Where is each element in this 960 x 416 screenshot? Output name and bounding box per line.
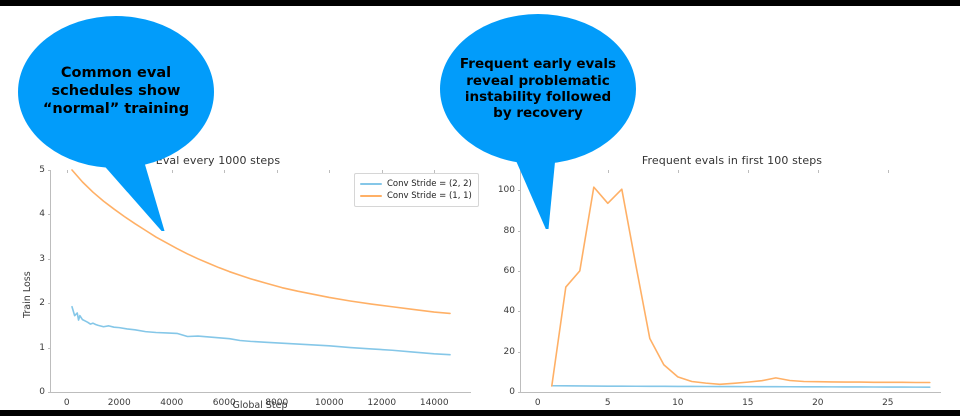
- x-tick-mark: [748, 170, 749, 173]
- y-tick-mark: [48, 259, 51, 260]
- x-tick-label: 10000: [315, 398, 344, 408]
- y-tick-label: 0: [21, 387, 45, 397]
- x-tick-label: 8000: [265, 398, 288, 408]
- y-axis-label-left: Train Loss: [22, 271, 33, 318]
- x-tick-label: 25: [882, 398, 893, 408]
- y-tick-mark: [518, 271, 521, 272]
- x-tick-mark: [329, 170, 330, 173]
- y-tick-label: 1: [21, 343, 45, 353]
- x-tick-mark: [818, 170, 819, 173]
- x-tick-mark: [277, 170, 278, 173]
- legend-swatch-orange: [360, 195, 382, 197]
- y-tick-mark: [518, 352, 521, 353]
- x-tick-label: 0: [535, 398, 541, 408]
- x-tick-label: 6000: [213, 398, 236, 408]
- x-tick-label: 2000: [108, 398, 131, 408]
- series-line: [552, 386, 930, 387]
- y-tick-label: 2: [21, 298, 45, 308]
- callout-text-right: Frequent early evals reveal problematic …: [440, 56, 636, 122]
- y-tick-mark: [48, 303, 51, 304]
- y-tick-mark: [518, 392, 521, 393]
- y-tick-mark: [518, 311, 521, 312]
- x-tick-mark: [888, 170, 889, 173]
- y-tick-label: 20: [491, 347, 515, 357]
- legend-swatch-blue: [360, 183, 382, 185]
- y-tick-label: 40: [491, 306, 515, 316]
- callout-text-left: Common eval schedules show “normal” trai…: [18, 65, 214, 118]
- y-tick-mark: [48, 348, 51, 349]
- callout-bubble-left: Common eval schedules show “normal” trai…: [18, 16, 233, 231]
- y-tick-label: 3: [21, 254, 45, 264]
- series-line: [72, 307, 450, 355]
- x-tick-label: 20: [812, 398, 823, 408]
- x-tick-label: 5: [605, 398, 611, 408]
- y-tick-mark: [48, 392, 51, 393]
- callout-bubble-right: Frequent early evals reveal problematic …: [440, 14, 655, 229]
- x-tick-label: 15: [742, 398, 753, 408]
- x-tick-label: 12000: [367, 398, 396, 408]
- callout-body-left: Common eval schedules show “normal” trai…: [18, 16, 214, 168]
- x-tick-label: 14000: [420, 398, 449, 408]
- x-tick-mark: [678, 170, 679, 173]
- x-tick-label: 0: [64, 398, 70, 408]
- figure-canvas: Eval every 1000 steps Train Loss Global …: [0, 6, 960, 410]
- x-tick-label: 10: [672, 398, 683, 408]
- x-tick-label: 4000: [160, 398, 183, 408]
- y-tick-mark: [518, 231, 521, 232]
- y-tick-label: 0: [491, 387, 515, 397]
- y-tick-label: 60: [491, 266, 515, 276]
- callout-body-right: Frequent early evals reveal problematic …: [440, 14, 636, 164]
